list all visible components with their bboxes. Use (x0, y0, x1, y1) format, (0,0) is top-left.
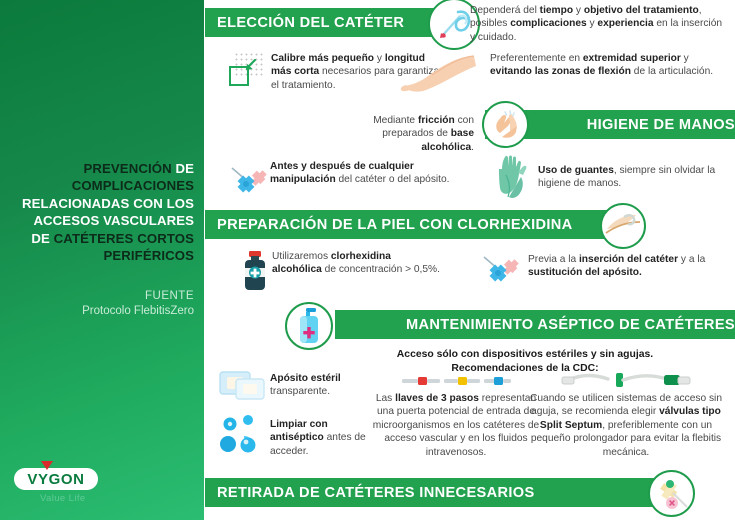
bubbles-icon (218, 414, 268, 458)
section-header-label: RETIRADA DE CATÉTERES INNECESARIOS (217, 485, 535, 501)
syringe-cross-icon (228, 160, 274, 202)
item-extremidad-superior: Preferentemente en extremidad superior y… (490, 52, 730, 79)
item-text: Las llaves de 3 pasos representan una pu… (368, 392, 544, 459)
section-header-label: ELECCIÓN DEL CATÉTER (217, 15, 404, 31)
syringe-cross-icon (480, 249, 526, 291)
source-label: FUENTE (4, 289, 194, 304)
item-friccion-base-alcoholica: Mediante fricción con preparados de base… (332, 114, 474, 154)
title-word: CATÉTERES CORTOS (54, 231, 194, 246)
item-text: Dependerá del tiempo y objetivo del trat… (470, 4, 725, 44)
dotted-square-arrow-icon (228, 52, 264, 92)
title-word: DE (31, 231, 50, 246)
antiseptic-bottle-icon (240, 250, 270, 292)
split-septum-valve-icon (560, 370, 692, 390)
three-way-stopcock-icon (400, 372, 512, 390)
gloves-icon (492, 153, 538, 205)
page-title-line-6: PERIFÉRICOS (6, 247, 194, 264)
skin-swab-icon (600, 203, 646, 249)
vygon-logo-text: VYGON (27, 471, 84, 488)
item-dependera-tiempo-objetivo: Dependerá del tiempo y objetivo del trat… (470, 4, 725, 44)
page-title-line-4: ACCESOS VASCULARES (6, 212, 194, 229)
item-aposito-esteril: Apósito estéril transparente. (270, 372, 375, 399)
vygon-logo: VYGON Value Life (14, 468, 114, 504)
left-title-panel: PREVENCIÓN DE COMPLICACIONES RELACIONADA… (0, 0, 204, 520)
item-llaves-3-pasos: Las llaves de 3 pasos representan una pu… (368, 392, 544, 459)
item-clorhexidina-alcoholica: Utilizaremos clorhexidina alcohólica de … (272, 250, 442, 277)
item-text: Apósito estéril transparente. (270, 372, 375, 399)
title-word: PERIFÉRICOS (104, 248, 195, 263)
section-header-preparacion-piel-clorhexidina: PREPARACIÓN DE LA PIEL CON CLORHEXIDINA (205, 210, 622, 239)
section-header-label: HIGIENE DE MANOS (587, 117, 735, 133)
item-text: Mediante fricción con preparados de base… (332, 114, 474, 154)
item-split-septum: Cuando se utilicen sistemas de acceso si… (520, 392, 732, 459)
title-word: DE (175, 161, 194, 176)
item-antes-despues-manipulacion: Antes y después de cualquier manipulació… (270, 160, 470, 187)
page-title-line-5: DE CATÉTERES CORTOS (6, 230, 194, 247)
item-text: Antes y después de cualquier manipulació… (270, 160, 470, 187)
page-title-line-1: PREVENCIÓN DE (6, 160, 194, 177)
page-title-line-3: RELACIONADAS CON LOS (6, 195, 194, 212)
item-text: Preferentemente en extremidad superior y… (490, 52, 730, 79)
sanitizer-bottle-icon (285, 302, 333, 350)
item-text: Limpiar con antiséptico antes de acceder… (270, 418, 380, 458)
section-header-label: MANTENIMIENTO ASÉPTICO DE CATÉTERES (406, 317, 735, 333)
item-previa-insercion: Previa a la inserción del catéter y a la… (528, 253, 728, 280)
section-header-mantenimiento-aseptico: MANTENIMIENTO ASÉPTICO DE CATÉTERES (335, 310, 735, 339)
section-header-retirada-cateteres: RETIRADA DE CATÉTERES INNECESARIOS (205, 478, 672, 507)
page-title: PREVENCIÓN DE COMPLICACIONES RELACIONADA… (6, 160, 194, 264)
arm-icon (398, 52, 480, 96)
item-text: Cuando se utilicen sistemas de acceso si… (520, 392, 732, 459)
item-limpiar-antiseptico: Limpiar con antiséptico antes de acceder… (270, 418, 380, 458)
vygon-logo-pill: VYGON (14, 468, 98, 490)
item-text: Previa a la inserción del catéter y a la… (528, 253, 728, 280)
item-text: Utilizaremos clorhexidina alcohólica de … (272, 250, 442, 277)
section-header-label: PREPARACIÓN DE LA PIEL CON CLORHEXIDINA (217, 217, 573, 233)
title-word: RELACIONADAS CON LOS (22, 196, 194, 211)
item-uso-de-guantes: Uso de guantes, siempre sin olvidar la h… (538, 164, 728, 191)
item-text: Uso de guantes, siempre sin olvidar la h… (538, 164, 728, 191)
vygon-triangle-icon (41, 461, 53, 470)
hand-rub-icon (482, 101, 529, 148)
section-header-eleccion-del-cateter: ELECCIÓN DEL CATÉTER (205, 8, 452, 37)
source-credit: FUENTE Protocolo FlebitisZero (4, 289, 194, 319)
source-value: Protocolo FlebitisZero (82, 305, 194, 317)
title-word: ACCESOS VASCULARES (33, 213, 194, 228)
page-title-line-2: COMPLICACIONES (6, 177, 194, 194)
title-word: COMPLICACIONES (72, 178, 194, 193)
cdc-note-line-1: Acceso sólo con dispositivos estériles y… (360, 348, 690, 362)
infographic-root: PREVENCIÓN DE COMPLICACIONES RELACIONADA… (0, 0, 735, 520)
title-word: PREVENCIÓN (84, 161, 172, 176)
dressing-pad-icon (218, 368, 270, 402)
vygon-tagline: Value Life (40, 493, 114, 504)
remove-catheter-icon (648, 470, 695, 517)
